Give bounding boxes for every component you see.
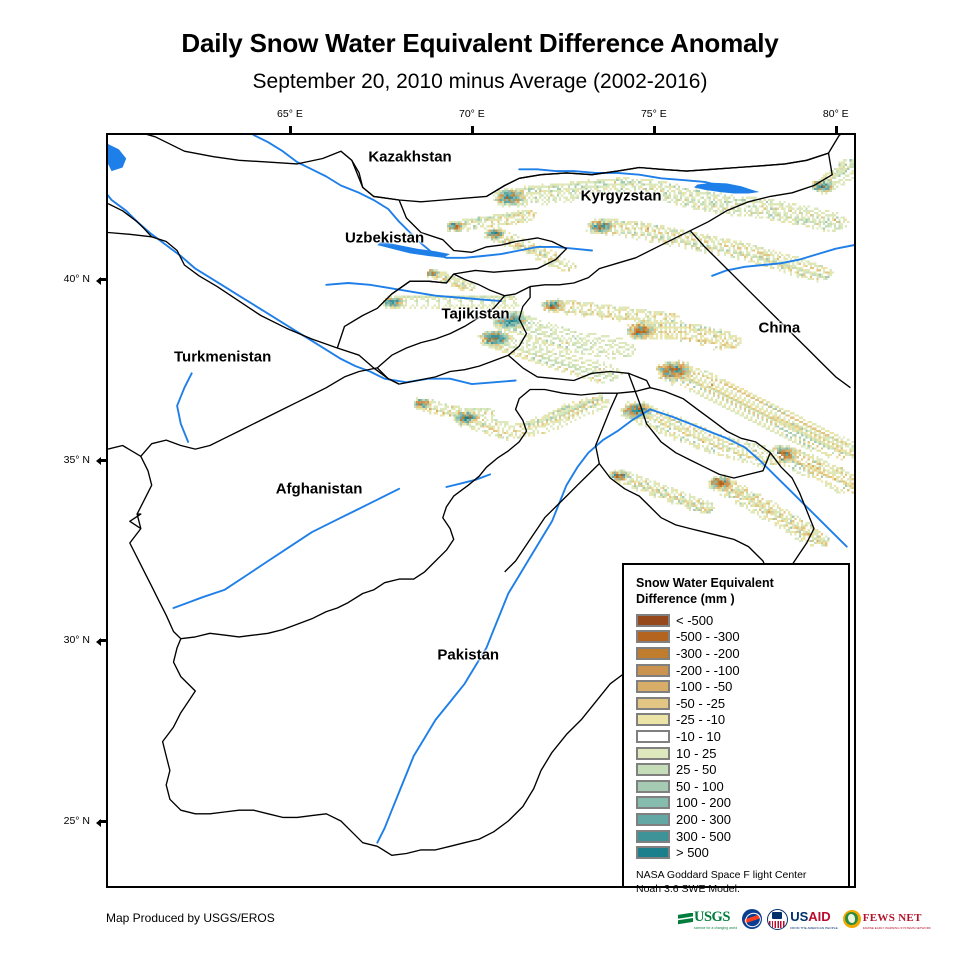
usgs-logo: USGS science for a changing world [678,907,737,931]
usaid-logo-text: USAID FROM THE AMERICAN PEOPLE [790,908,838,930]
legend-swatch [636,630,670,643]
legend-row: -10 - 10 [636,728,838,745]
legend-row: -25 - -10 [636,712,838,729]
legend-swatch [636,614,670,627]
country-label-afghanistan: Afghanistan [276,480,363,497]
legend-row: < -500 [636,612,838,629]
legend-swatch [636,713,670,726]
legend-title: Snow Water Equivalent Difference (mm ) [636,575,838,607]
legend-label: -25 - -10 [676,712,725,727]
legend-row: 100 - 200 [636,795,838,812]
country-border [108,446,141,457]
lat-tick-label: 35° N [64,454,90,466]
lon-tick-75 [653,126,656,135]
legend-label: -100 - -50 [676,679,732,694]
legend-row: 10 - 25 [636,745,838,762]
legend-swatch [636,763,670,776]
river [108,191,516,384]
agency-logos: USGS science for a changing world USAID … [678,907,931,931]
legend-panel: Snow Water Equivalent Difference (mm ) <… [622,563,850,888]
legend-label: < -500 [676,613,713,628]
fewsnet-globe-icon [843,910,861,928]
legend-row: 300 - 500 [636,828,838,845]
lon-tick-65 [289,126,292,135]
nasa-meatball-icon [742,909,762,929]
legend-row: 50 - 100 [636,778,838,795]
legend-label: -10 - 10 [676,729,721,744]
legend-row: -300 - -200 [636,645,838,662]
country-border [108,204,152,237]
lat-tick-label: 25° N [64,815,90,827]
legend-label: 10 - 25 [676,746,716,761]
legend-row: -100 - -50 [636,678,838,695]
legend-label: -300 - -200 [676,646,740,661]
legend-swatch [636,730,670,743]
river [377,409,650,842]
legend-swatch [636,647,670,660]
legend-row: 25 - 50 [636,761,838,778]
legend-credit-line2: Noah 3.6 SWE Model. [636,882,838,896]
fewsnet-logo-text: FEWS NET FAMINE EARLY WARNING SYSTEMS NE… [863,908,931,930]
legend-class-list: < -500-500 - -300-300 - -200-200 - -100-… [636,612,838,861]
legend-label: > 500 [676,845,709,860]
legend-row: > 500 [636,844,838,861]
lat-tick-label: 30° N [64,634,90,646]
country-label-kazakhstan: Kazakhstan [368,148,451,165]
page-title: Daily Snow Water Equivalent Difference A… [0,28,960,59]
river [174,489,400,608]
country-border [352,160,399,200]
legend-label: -200 - -100 [676,663,740,678]
legend-swatch [636,680,670,693]
legend-label: 25 - 50 [676,762,716,777]
country-label-turkmenistan: Turkmenistan [174,349,271,366]
legend-swatch [636,813,670,826]
legend-label: -500 - -300 [676,629,740,644]
map-page: Daily Snow Water Equivalent Difference A… [0,0,960,960]
nasa-logo [742,907,762,931]
lon-tick-label: 80° E [823,108,849,120]
legend-swatch [636,697,670,710]
lat-tick-mark [99,820,108,823]
lat-tick-label: 40° N [64,273,90,285]
page-subtitle: September 20, 2010 minus Average (2002-2… [0,70,960,94]
legend-swatch [636,846,670,859]
legend-row: 200 - 300 [636,811,838,828]
legend-row: -200 - -100 [636,662,838,679]
legend-label: 200 - 300 [676,812,731,827]
legend-credit: NASA Goddard Space F light Center Noah 3… [636,868,838,897]
lat-tick-mark [99,639,108,642]
fewsnet-logo: FEWS NET FAMINE EARLY WARNING SYSTEMS NE… [843,907,931,931]
legend-title-line2: Difference (mm ) [636,591,838,607]
usaid-seal-icon [767,909,788,930]
legend-swatch [636,780,670,793]
country-label-uzbekistan: Uzbekistan [345,229,424,246]
lat-tick-mark [99,459,108,462]
country-border [505,464,600,572]
legend-title-line1: Snow Water Equivalent [636,575,838,591]
legend-row: -500 - -300 [636,629,838,646]
lake [108,144,126,171]
usaid-logo: USAID FROM THE AMERICAN PEOPLE [767,907,838,931]
river [177,373,192,442]
legend-label: 100 - 200 [676,795,731,810]
country-label-pakistan: Pakistan [437,646,499,663]
legend-swatch [636,664,670,677]
footer-note: Map Produced by USGS/EROS [106,911,275,925]
lon-tick-label: 70° E [459,108,485,120]
country-label-tajikistan: Tajikistan [441,305,509,322]
lat-tick-mark [99,278,108,281]
map-frame[interactable]: 65° E70° E75° E80° E 40° N35° N30° N25° … [106,133,856,888]
legend-credit-line1: NASA Goddard Space F light Center [636,868,838,882]
legend-swatch [636,830,670,843]
country-label-china: China [759,320,801,337]
legend-label: -50 - -25 [676,696,725,711]
swe-anomaly-layer [383,157,854,549]
usgs-logo-text: USGS science for a changing world [694,908,737,930]
country-label-kyrgyzstan: Kyrgyzstan [581,188,662,205]
usgs-wave-icon [678,913,693,926]
legend-swatch [636,747,670,760]
legend-swatch [636,796,670,809]
legend-row: -50 - -25 [636,695,838,712]
lon-tick-80 [835,126,838,135]
lon-tick-label: 75° E [641,108,667,120]
lon-tick-label: 65° E [277,108,303,120]
lon-tick-70 [471,126,474,135]
legend-label: 300 - 500 [676,829,731,844]
legend-label: 50 - 100 [676,779,724,794]
